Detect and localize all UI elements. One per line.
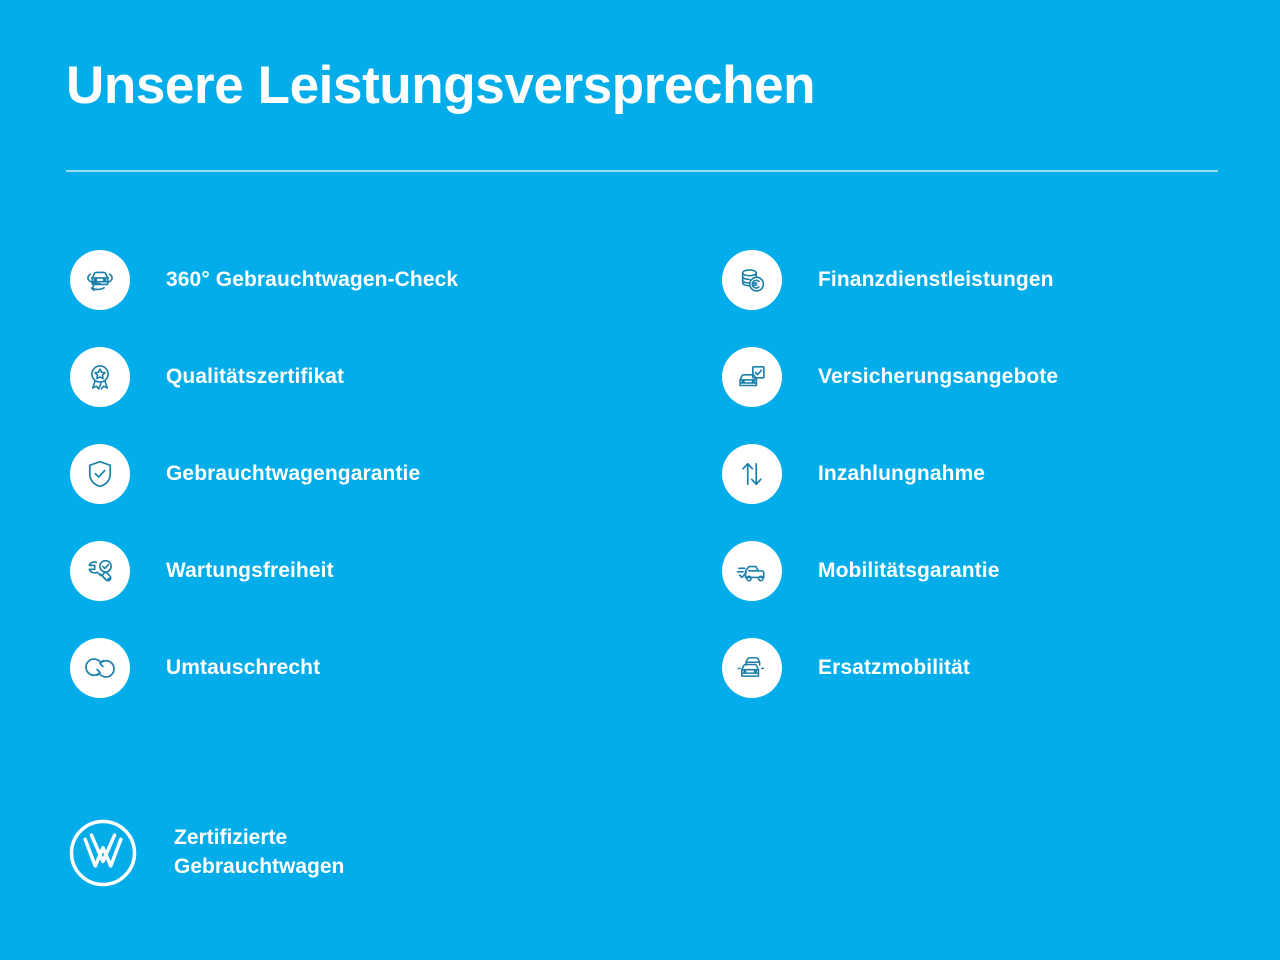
up-down-arrows-icon [722,444,782,504]
promise-panel: Unsere Leistungsversprechen [0,0,1280,960]
features-column-right: Finanzdienstleistungen Versicherungsange… [722,250,1252,698]
car-360-check-icon [70,250,130,310]
car-document-check-icon [722,347,782,407]
exchange-arrows-icon [70,638,130,698]
feature-label: Inzahlungnahme [818,462,985,486]
feature-item[interactable]: Umtauschrecht [70,638,670,698]
feature-label: Ersatzmobilität [818,656,970,680]
car-motion-check-icon [722,541,782,601]
volkswagen-logo [68,818,138,888]
feature-item[interactable]: Gebrauchtwagengarantie [70,444,670,504]
feature-item[interactable]: Qualitätszertifikat [70,347,670,407]
feature-item[interactable]: Finanzdienstleistungen [722,250,1252,310]
feature-item[interactable]: Mobilitätsgarantie [722,541,1252,601]
brand-text: Zertifizierte Gebrauchtwagen [174,824,344,882]
feature-label: Qualitätszertifikat [166,365,344,389]
wrench-check-icon [70,541,130,601]
page-title: Unsere Leistungsversprechen [66,58,1218,114]
feature-label: Umtauschrecht [166,656,320,680]
feature-label: Versicherungsangebote [818,365,1058,389]
feature-label: Wartungsfreiheit [166,559,334,583]
brand-line-1: Zertifizierte [174,824,344,853]
feature-item[interactable]: Wartungsfreiheit [70,541,670,601]
shield-check-icon [70,444,130,504]
feature-item[interactable]: 360° Gebrauchtwagen-Check [70,250,670,310]
feature-item[interactable]: Versicherungsangebote [722,347,1252,407]
feature-label: 360° Gebrauchtwagen-Check [166,268,458,292]
feature-label: Finanzdienstleistungen [818,268,1054,292]
feature-label: Mobilitätsgarantie [818,559,1000,583]
coins-euro-icon [722,250,782,310]
feature-item[interactable]: Ersatzmobilität [722,638,1252,698]
header-divider [66,170,1218,172]
award-rosette-icon [70,347,130,407]
feature-item[interactable]: Inzahlungnahme [722,444,1252,504]
brand-block: Zertifizierte Gebrauchtwagen [68,818,344,888]
two-cars-icon [722,638,782,698]
brand-line-2: Gebrauchtwagen [174,853,344,882]
features-column-left: 360° Gebrauchtwagen-Check Qualitätszerti… [70,250,670,698]
feature-label: Gebrauchtwagengarantie [166,462,420,486]
header: Unsere Leistungsversprechen [66,58,1218,114]
